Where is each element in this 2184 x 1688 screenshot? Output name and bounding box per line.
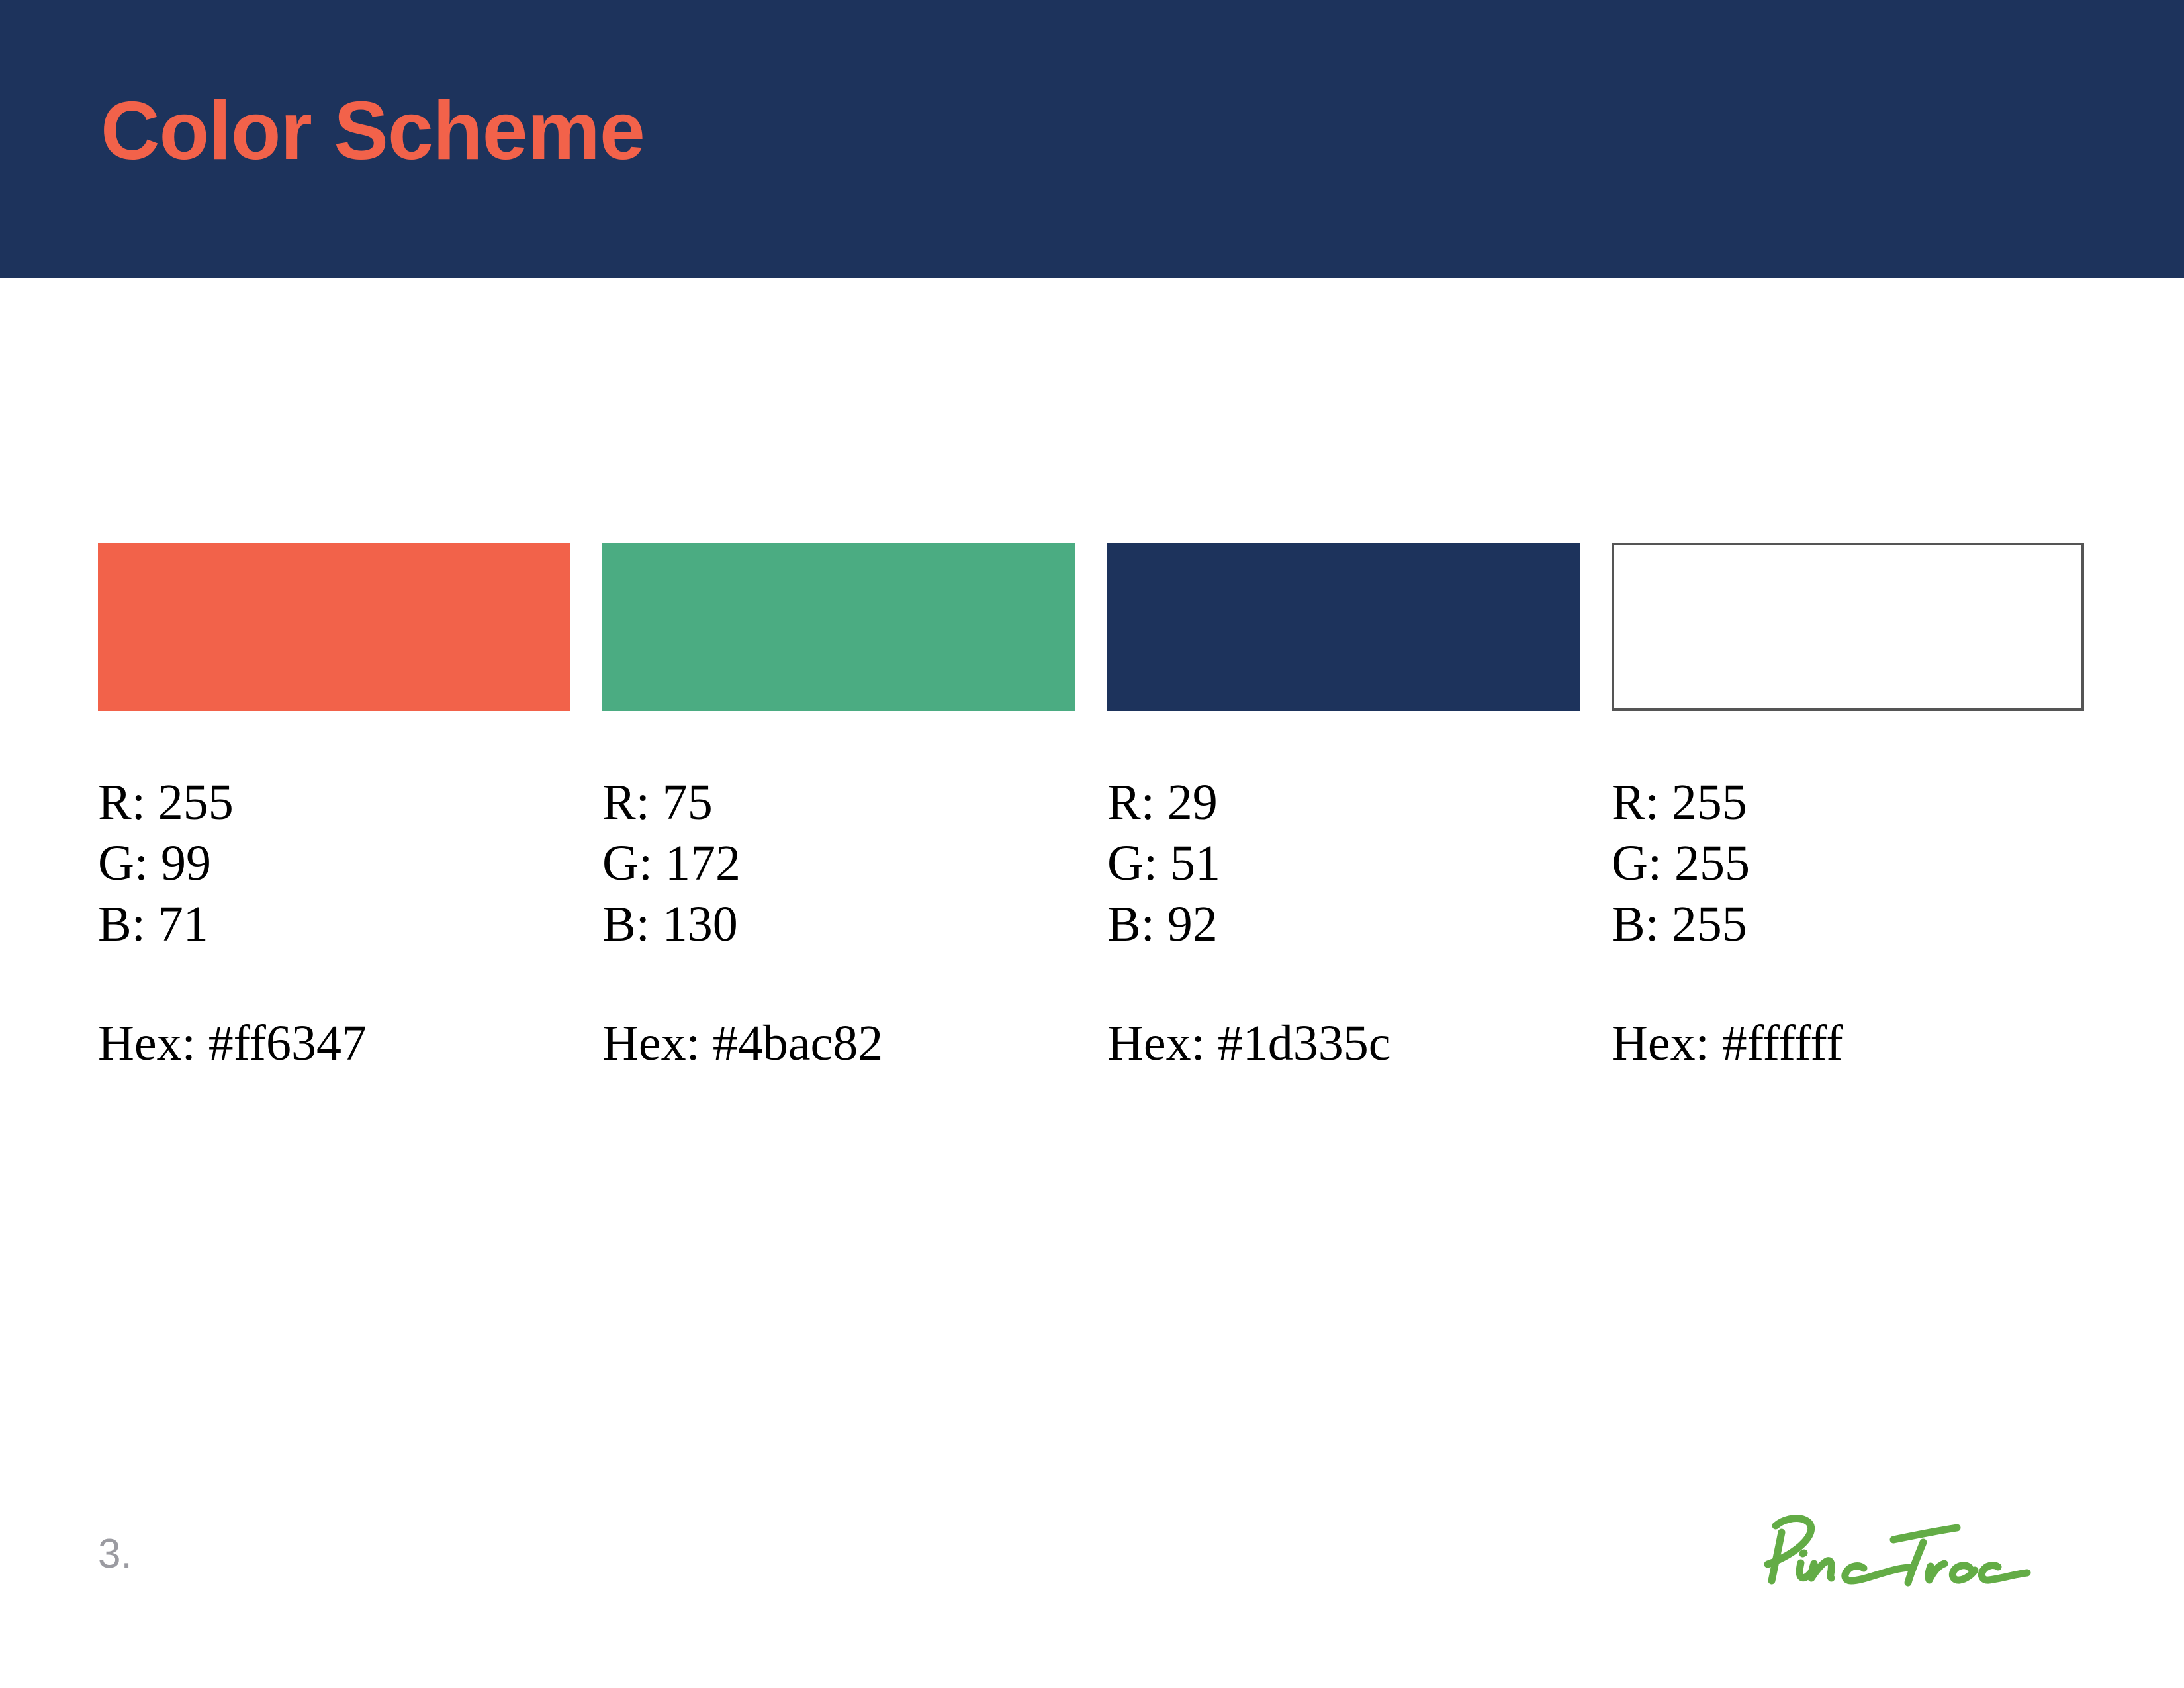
green-value: G: 172 — [602, 833, 1092, 894]
red-value: R: 255 — [98, 772, 588, 833]
green-swatch[interactable] — [602, 543, 1075, 711]
green-value: G: 51 — [1107, 833, 1597, 894]
navy-swatch[interactable] — [1107, 543, 1580, 711]
color-swatch-row — [98, 543, 2086, 711]
hex-value: Hex: #1d335c — [1107, 1013, 1597, 1074]
hex-value: Hex: #ffffff — [1612, 1013, 2101, 1074]
red-value: R: 255 — [1612, 772, 2101, 833]
slide-color-scheme: Color Scheme R: 255 G: 99 B: 71 Hex: #ff… — [0, 0, 2184, 1688]
blue-value: B: 71 — [98, 894, 588, 955]
color-info-4: R: 255 G: 255 B: 255 Hex: #ffffff — [1612, 772, 2101, 1074]
hex-value: Hex: #4bac82 — [602, 1013, 1092, 1074]
red-value: R: 29 — [1107, 772, 1597, 833]
page-number: 3. — [98, 1530, 132, 1578]
color-info-row: R: 255 G: 99 B: 71 Hex: #ff6347 R: 75 G:… — [98, 772, 2086, 1103]
page-title: Color Scheme — [101, 85, 645, 177]
pine-tree-logo-icon: Pine Tree — [1717, 1495, 2048, 1627]
tomato-swatch[interactable] — [98, 543, 570, 711]
header-band: Color Scheme — [0, 0, 2184, 278]
blue-value: B: 130 — [602, 894, 1092, 955]
swatch-cell-4 — [1612, 543, 2084, 711]
hex-value: Hex: #ff6347 — [98, 1013, 588, 1074]
blue-value: B: 92 — [1107, 894, 1597, 955]
swatch-cell-1 — [98, 543, 570, 711]
green-value: G: 255 — [1612, 833, 2101, 894]
red-value: R: 75 — [602, 772, 1092, 833]
swatch-cell-2 — [602, 543, 1075, 711]
color-info-2: R: 75 G: 172 B: 130 Hex: #4bac82 — [602, 772, 1092, 1074]
color-info-1: R: 255 G: 99 B: 71 Hex: #ff6347 — [98, 772, 588, 1074]
green-value: G: 99 — [98, 833, 588, 894]
swatch-cell-3 — [1107, 543, 1580, 711]
white-swatch[interactable] — [1612, 543, 2084, 711]
color-info-3: R: 29 G: 51 B: 92 Hex: #1d335c — [1107, 772, 1597, 1074]
blue-value: B: 255 — [1612, 894, 2101, 955]
